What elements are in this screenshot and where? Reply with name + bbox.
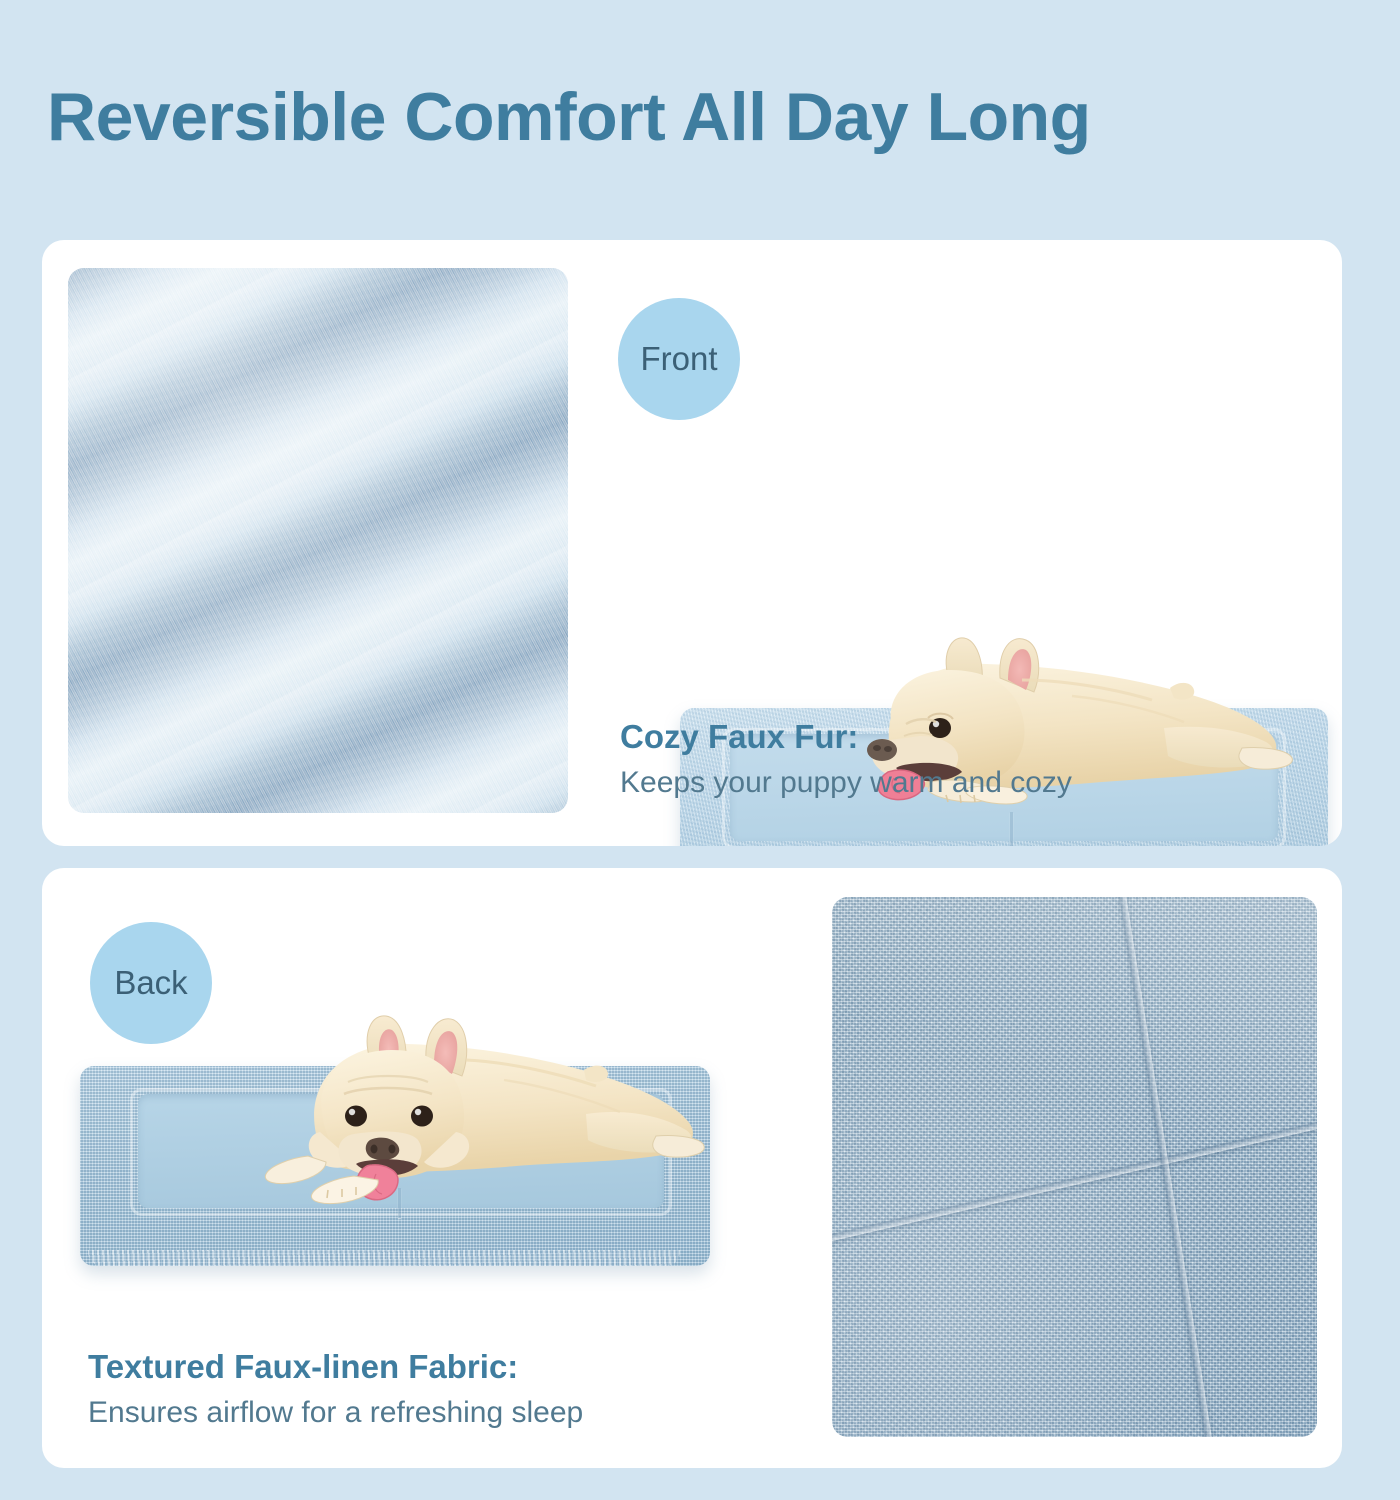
badge-back: Back	[90, 922, 212, 1044]
back-feature-card: Back Textured Faux-linen Fabric: Ensures…	[42, 868, 1342, 1468]
fur-highlight-overlay	[68, 268, 568, 813]
dog-front-paw-left	[265, 1156, 326, 1184]
back-caption-subtitle: Ensures airflow for a refreshing sleep	[88, 1396, 583, 1430]
back-caption: Textured Faux-linen Fabric: Ensures airf…	[88, 1348, 583, 1430]
dog-on-linen-bed-image	[58, 1000, 758, 1300]
dog-tail	[1170, 683, 1194, 700]
front-caption: Cozy Faux Fur: Keeps your puppy warm and…	[620, 718, 1072, 800]
badge-front: Front	[618, 298, 740, 420]
dog-back-paw	[1239, 747, 1292, 769]
french-bulldog-back	[204, 1008, 704, 1223]
page-title: Reversible Comfort All Day Long	[47, 78, 1091, 156]
dog-front-paw-right	[311, 1176, 378, 1204]
front-feature-card: Front Cozy Faux Fur: Keeps your puppy wa…	[42, 240, 1342, 846]
dog-eye-right	[411, 1106, 433, 1127]
dog-tail	[584, 1066, 608, 1082]
faux-linen-closeup-image	[832, 897, 1317, 1437]
bed-fur-underside-edge	[88, 1250, 680, 1266]
front-caption-title: Cozy Faux Fur:	[620, 718, 1072, 756]
linen-shading-overlay	[832, 897, 1317, 1437]
back-caption-title: Textured Faux-linen Fabric:	[88, 1348, 583, 1386]
dog-back-paw	[653, 1135, 704, 1157]
dog-eye-left	[345, 1106, 367, 1127]
faux-fur-closeup-image	[68, 268, 568, 813]
front-caption-subtitle: Keeps your puppy warm and cozy	[620, 766, 1072, 800]
